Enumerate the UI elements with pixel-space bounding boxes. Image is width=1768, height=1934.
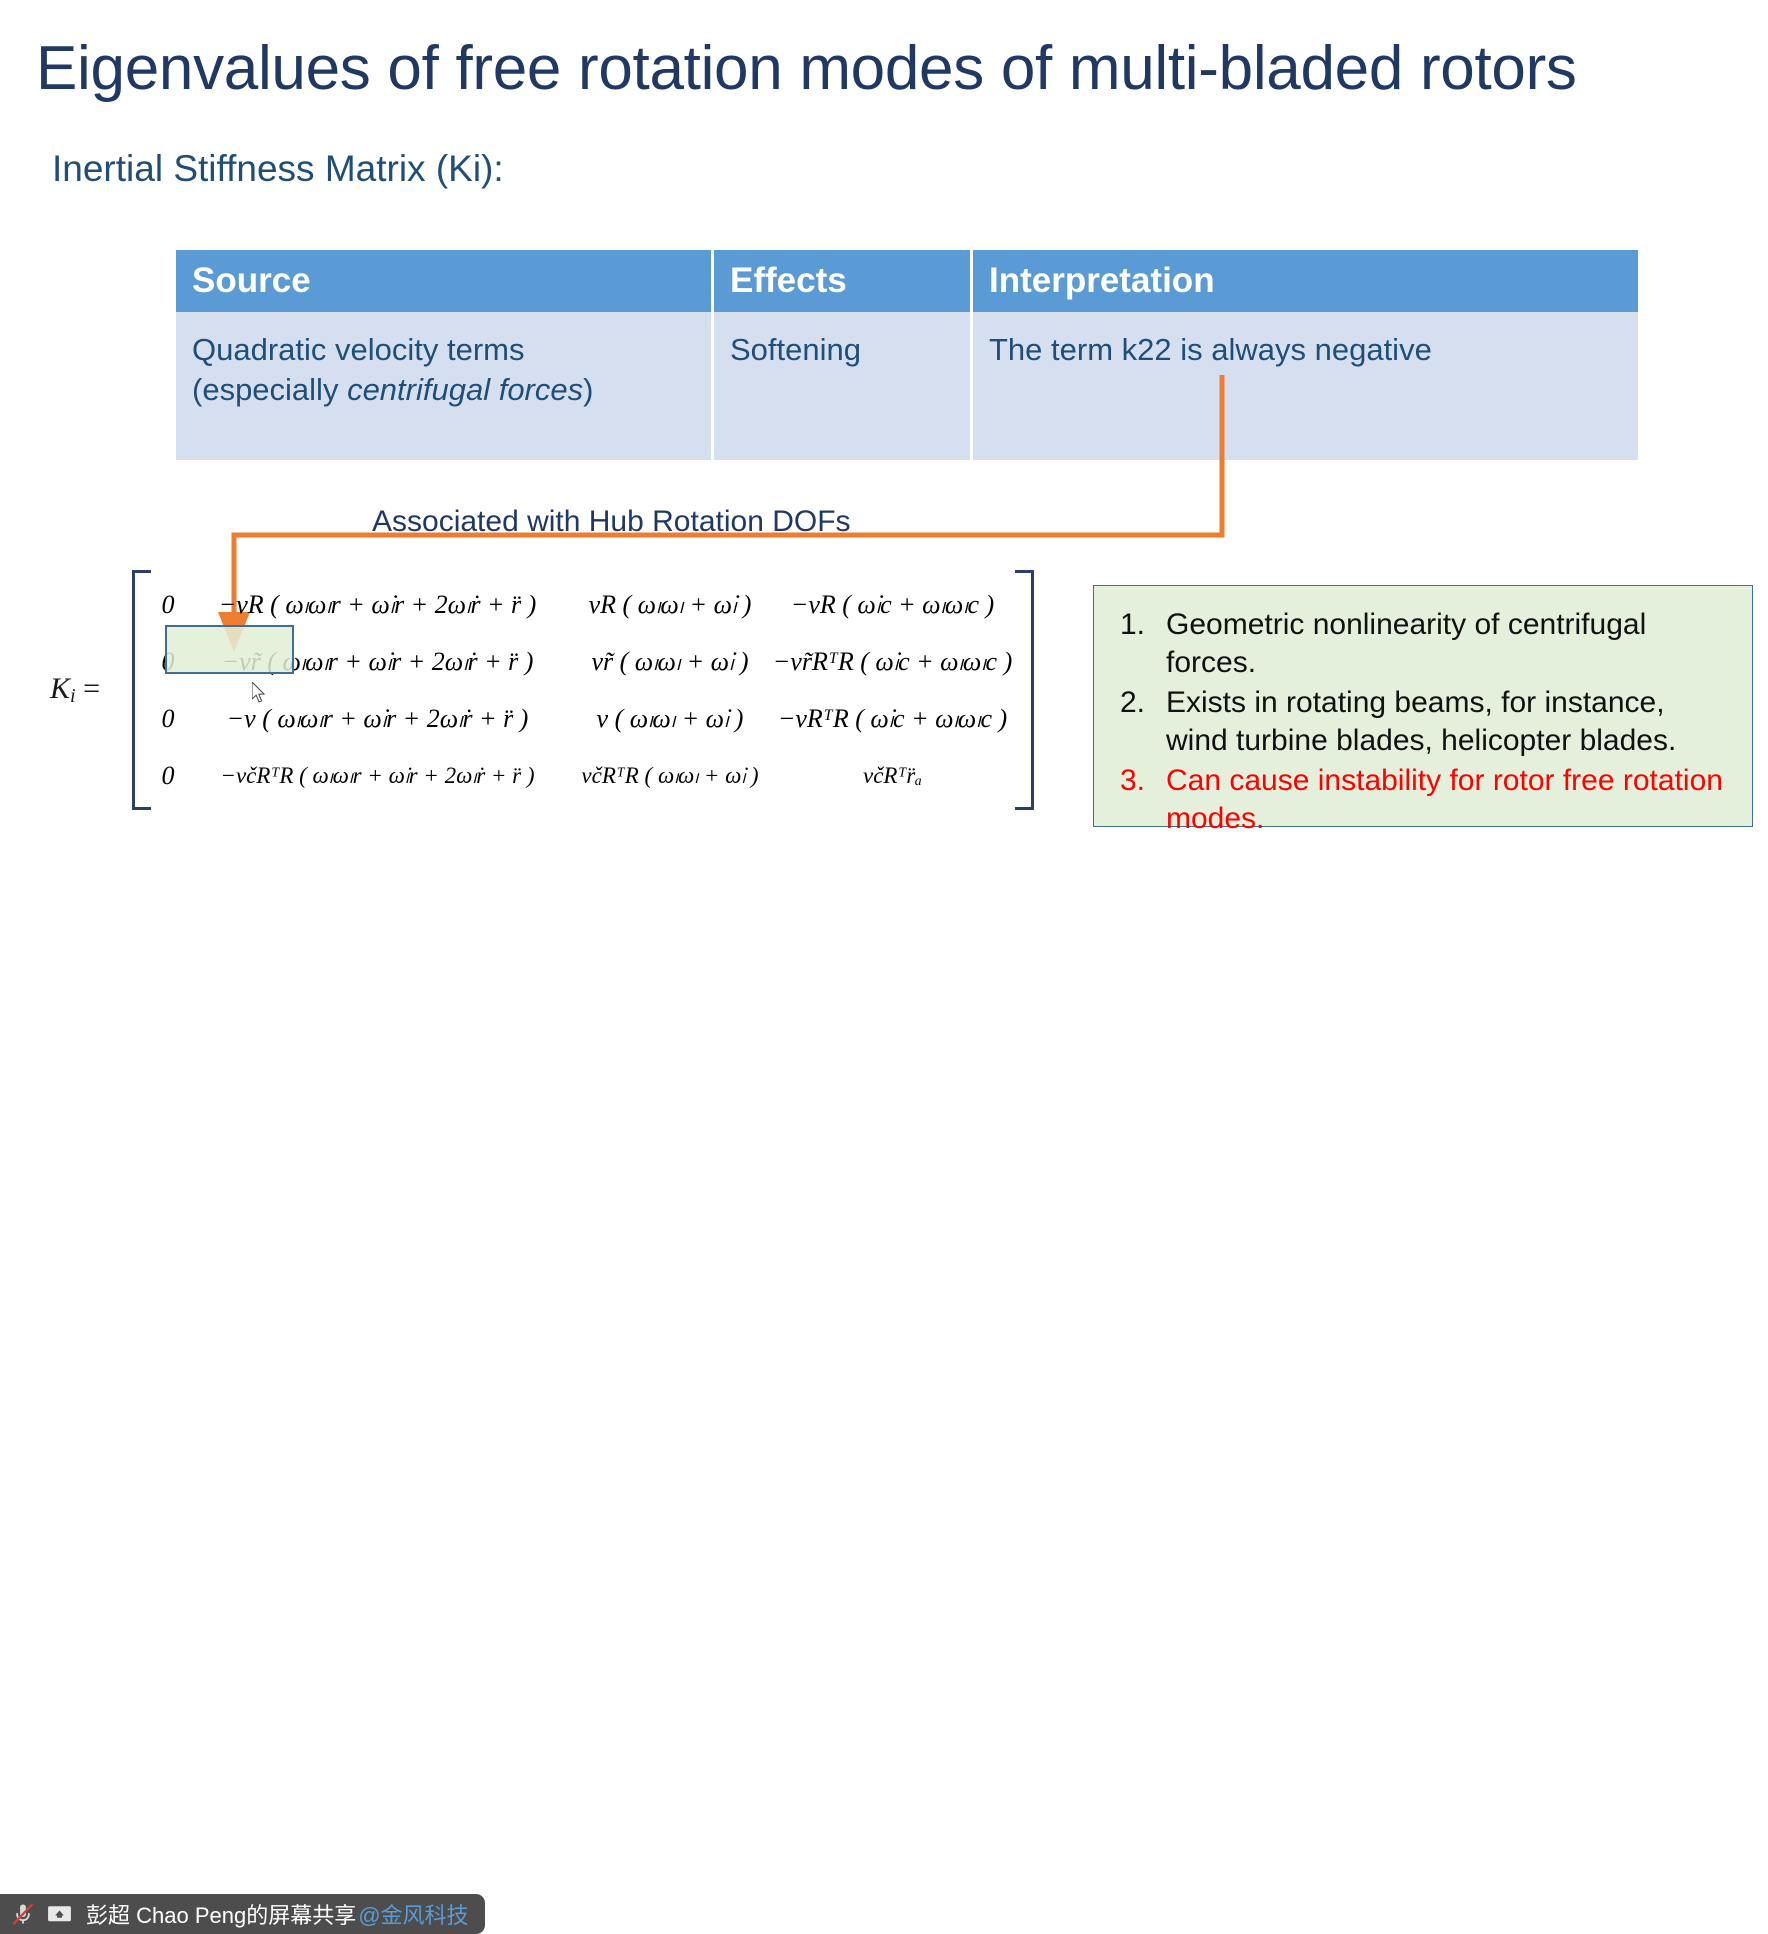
matrix-cell: −νčRᵀR ( ωₗωₗr + ω̇ₗr + 2ωₗṙ + r̈ ) <box>185 763 570 789</box>
table-body: Quadratic velocity terms (especially cen… <box>176 312 1638 460</box>
matrix-cell: −νR ( ωₗωₗr + ω̇ₗr + 2ωₗṙ + r̈ ) <box>185 590 570 620</box>
matrix-cell: 0 <box>151 761 185 791</box>
matrix-cell: νčRᵀR ( ωₗωₗ + ω̇ₗ ) <box>570 763 770 789</box>
notes-panel: 1. Geometric nonlinearity of centrifugal… <box>1093 585 1753 827</box>
matrix-cell: νR ( ωₗωₗ + ω̇ₗ ) <box>570 590 770 620</box>
matrix-cell: ν ( ωₗωₗ + ω̇ₗ ) <box>570 704 770 734</box>
microphone-muted-icon[interactable] <box>8 1899 38 1929</box>
list-item: 2. Exists in rotating beams, for instanc… <box>1120 684 1730 760</box>
matrix-cell: νčRᵀr̈ₐ <box>770 763 1015 789</box>
page-title: Eigenvalues of free rotation modes of mu… <box>36 36 1736 101</box>
matrix-grid: 0 −νR ( ωₗωₗr + ω̇ₗr + 2ωₗṙ + r̈ ) νR ( … <box>151 570 1015 810</box>
mouse-cursor <box>252 682 268 706</box>
matrix-cell: 0 <box>151 590 185 620</box>
source-line2-prefix: (especially <box>192 372 347 407</box>
list-item-text: Exists in rotating beams, for instance, … <box>1166 684 1730 760</box>
matrix-label: Ki = <box>50 672 100 708</box>
cell-effects-text: Softening <box>714 312 970 370</box>
list-item-text: Can cause instability for rotor free rot… <box>1166 762 1730 838</box>
matrix-cell: νr̃ ( ωₗωₗ + ω̇ₗ ) <box>570 647 770 677</box>
matrix-label-subscript: i <box>70 685 76 707</box>
matrix-right-bracket <box>1015 570 1034 810</box>
presentation-slide: Eigenvalues of free rotation modes of mu… <box>0 0 1768 944</box>
bottom-taskbar: 彭超 Chao Peng的屏幕共享 @金风科技 <box>0 944 1768 996</box>
matrix-cell: −νr̃RᵀR ( ω̇ₗc + ωₗωₗc ) <box>770 647 1015 677</box>
list-item-number: 2. <box>1120 684 1166 760</box>
matrix-cell: −νR ( ω̇ₗc + ωₗωₗc ) <box>770 590 1015 620</box>
matrix-row: 0 −νčRᵀR ( ωₗωₗr + ω̇ₗr + 2ωₗṙ + r̈ ) ν… <box>151 747 1015 804</box>
column-header-source: Source <box>176 250 713 312</box>
notes-list: 1. Geometric nonlinearity of centrifugal… <box>1094 586 1752 839</box>
column-header-effects: Effects <box>713 250 972 312</box>
column-header-interpretation: Interpretation <box>972 250 1639 312</box>
cell-interpretation: The term k22 is always negative <box>972 312 1639 460</box>
matrix-row: 0 −ν ( ωₗωₗr + ω̇ₗr + 2ωₗṙ + r̈ ) ν ( ωₗ… <box>151 690 1015 747</box>
share-owner-label: 彭超 Chao Peng的屏幕共享 <box>86 1898 356 1930</box>
list-item-warning: 3. Can cause instability for rotor free … <box>1120 762 1730 838</box>
source-line2-emphasis: centrifugal forces <box>347 372 583 407</box>
matrix-label-k: K <box>50 672 70 705</box>
summary-table-wrapper: Source Effects Interpretation Quadratic … <box>176 250 1638 460</box>
cell-source-line2: (especially centrifugal forces) <box>192 370 711 410</box>
list-item-text: Geometric nonlinearity of centrifugal fo… <box>1166 606 1730 682</box>
summary-table: Source Effects Interpretation Quadratic … <box>176 250 1638 460</box>
cell-effects: Softening <box>713 312 972 460</box>
source-line2-suffix: ) <box>583 372 593 407</box>
list-item: 1. Geometric nonlinearity of centrifugal… <box>1120 606 1730 682</box>
list-item-number: 1. <box>1120 606 1166 682</box>
table-header: Source Effects Interpretation <box>176 250 1638 312</box>
table-header-row: Source Effects Interpretation <box>176 250 1638 312</box>
cell-source-line1: Quadratic velocity terms <box>192 330 711 370</box>
screen-share-icon[interactable] <box>44 1899 74 1929</box>
list-item-number: 3. <box>1120 762 1166 838</box>
matrix-cell: 0 <box>151 704 185 734</box>
company-tag-label: @金风科技 <box>358 1898 468 1930</box>
section-subtitle: Inertial Stiffness Matrix (Ki): <box>52 148 504 190</box>
matrix-left-bracket <box>132 570 151 810</box>
term-highlight-box <box>165 625 294 674</box>
matrix-label-equals: = <box>83 672 100 705</box>
connector-annotation-label: Associated with Hub Rotation DOFs <box>372 505 851 539</box>
matrix-cell: −νRᵀR ( ω̇ₗc + ωₗωₗc ) <box>770 704 1015 734</box>
cell-source: Quadratic velocity terms (especially cen… <box>176 312 713 460</box>
matrix-cell: −ν ( ωₗωₗr + ω̇ₗr + 2ωₗṙ + r̈ ) <box>185 704 570 734</box>
screen-share-status-bar[interactable]: 彭超 Chao Peng的屏幕共享 @金风科技 <box>0 1894 485 1934</box>
table-row: Quadratic velocity terms (especially cen… <box>176 312 1638 460</box>
cell-interpretation-text: The term k22 is always negative <box>973 312 1638 370</box>
